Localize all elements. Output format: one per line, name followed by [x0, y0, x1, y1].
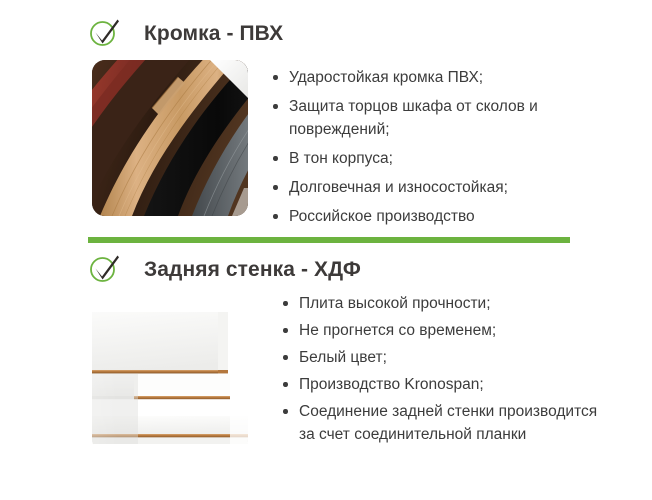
green-horizontal-divider: [88, 237, 570, 243]
green-check-circle-icon: [88, 16, 122, 48]
section-edge-header: Кромка - ПВХ: [0, 12, 652, 54]
pvc-edge-banding-rolls-image: [92, 60, 248, 216]
section-back-header: Задняя стенка - ХДФ: [0, 248, 652, 290]
list-item: В тон корпуса;: [272, 147, 589, 170]
feature-list-edge: Ударостойкая кромка ПВХ; Защита торцов ш…: [272, 66, 589, 234]
feature-list-back: Плита высокой прочности; Не прогнется со…: [282, 292, 599, 450]
section-back: Задняя стенка - ХДФ: [0, 248, 652, 460]
green-check-circle-icon: [88, 252, 122, 284]
pvc-edge-banding-rolls-photo: [92, 60, 248, 216]
list-item: Защита торцов шкафа от сколов и поврежде…: [272, 95, 589, 141]
hdf-white-boards-photo: [92, 296, 248, 452]
product-features-page: Кромка - ПВХ: [0, 0, 652, 500]
list-item: Ударостойкая кромка ПВХ;: [272, 66, 589, 89]
section-edge-body: Ударостойкая кромка ПВХ; Защита торцов ш…: [0, 54, 652, 224]
section-back-title: Задняя стенка - ХДФ: [144, 259, 361, 280]
list-item: Соединение задней стенки производится за…: [282, 400, 599, 446]
list-item: Долговечная и износостойкая;: [272, 176, 589, 199]
list-item: Производство Kronospan;: [282, 373, 599, 396]
list-item: Белый цвет;: [282, 346, 599, 369]
hdf-white-boards-image: [92, 296, 248, 452]
section-edge: Кромка - ПВХ: [0, 12, 652, 224]
list-item: Плита высокой прочности;: [282, 292, 599, 315]
section-back-body: Плита высокой прочности; Не прогнется со…: [0, 290, 652, 460]
section-edge-title: Кромка - ПВХ: [144, 23, 283, 44]
list-item: Не прогнется со временем;: [282, 319, 599, 342]
list-item: Российское производство: [272, 205, 589, 228]
